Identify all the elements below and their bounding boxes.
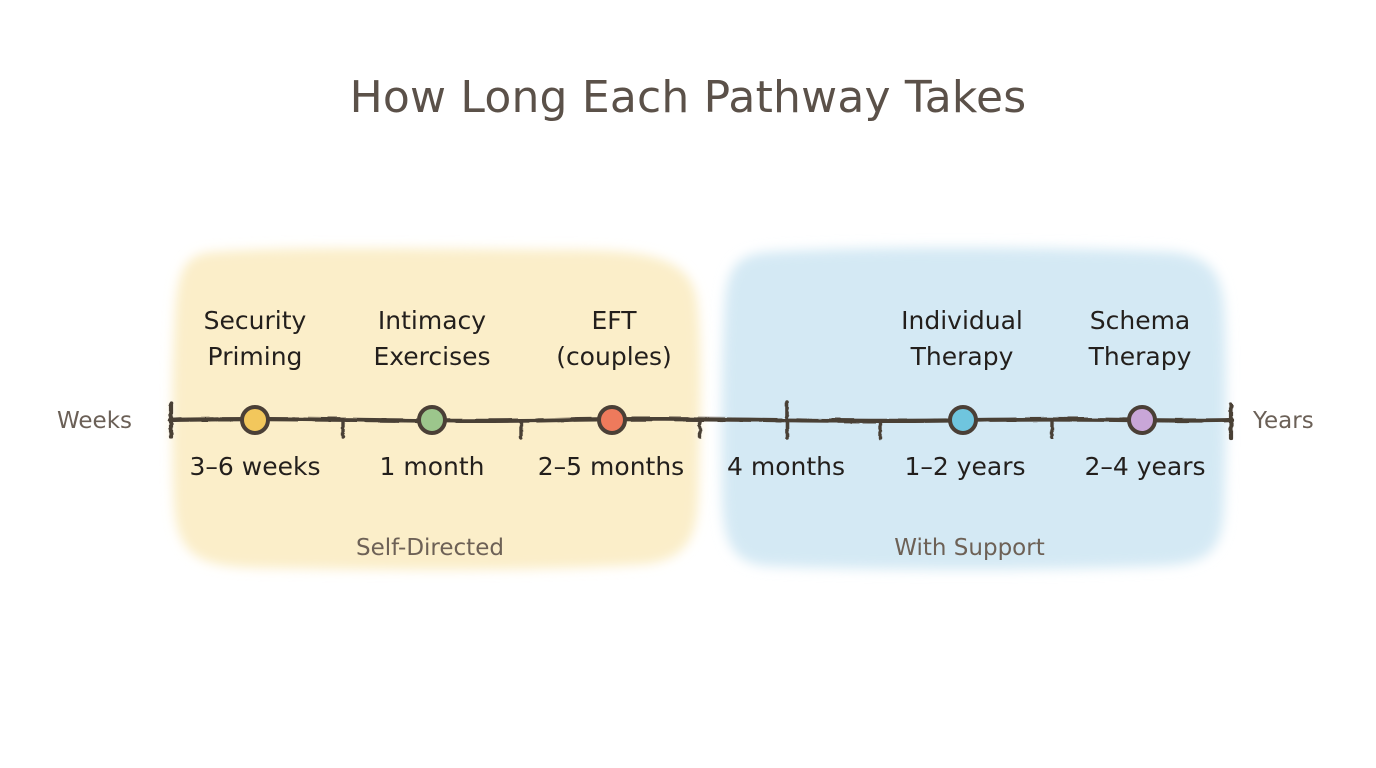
node-dot-security-priming[interactable] — [240, 405, 270, 435]
node-label-line1: Schema — [1089, 303, 1192, 339]
axis-label-weeks: Weeks — [57, 408, 132, 434]
node-label-line1: Intimacy — [373, 303, 490, 339]
axis-label-years: Years — [1253, 408, 1314, 434]
node-dot-schema-therapy[interactable] — [1127, 405, 1157, 435]
node-duration-individual-therapy: 1–2 years — [904, 452, 1025, 481]
node-duration-eft-couples: 2–5 months — [538, 452, 684, 481]
node-label-line2: Therapy — [901, 339, 1023, 375]
tick-duration-4-months: 4 months — [727, 452, 845, 481]
node-dot-eft-couples[interactable] — [597, 405, 627, 435]
node-label-line1: EFT — [556, 303, 672, 339]
node-label-individual-therapy: Individual Therapy — [901, 303, 1023, 374]
axis-layer — [0, 0, 1376, 768]
node-label-intimacy-exercises: Intimacy Exercises — [373, 303, 490, 374]
node-label-eft-couples: EFT (couples) — [556, 303, 672, 374]
node-label-line2: Exercises — [373, 339, 490, 375]
node-duration-security-priming: 3–6 weeks — [190, 452, 321, 481]
node-label-line2: Therapy — [1089, 339, 1192, 375]
node-duration-schema-therapy: 2–4 years — [1084, 452, 1205, 481]
node-label-security-priming: Security Priming — [204, 303, 307, 374]
timeline-diagram: How Long Each Pathway Takes Self-Dir — [0, 0, 1376, 768]
node-dot-intimacy-exercises[interactable] — [417, 405, 447, 435]
node-label-line2: Priming — [204, 339, 307, 375]
node-label-line1: Individual — [901, 303, 1023, 339]
node-label-line1: Security — [204, 303, 307, 339]
node-dot-individual-therapy[interactable] — [948, 405, 978, 435]
node-duration-intimacy-exercises: 1 month — [380, 452, 485, 481]
node-label-line2: (couples) — [556, 339, 672, 375]
node-label-schema-therapy: Schema Therapy — [1089, 303, 1192, 374]
